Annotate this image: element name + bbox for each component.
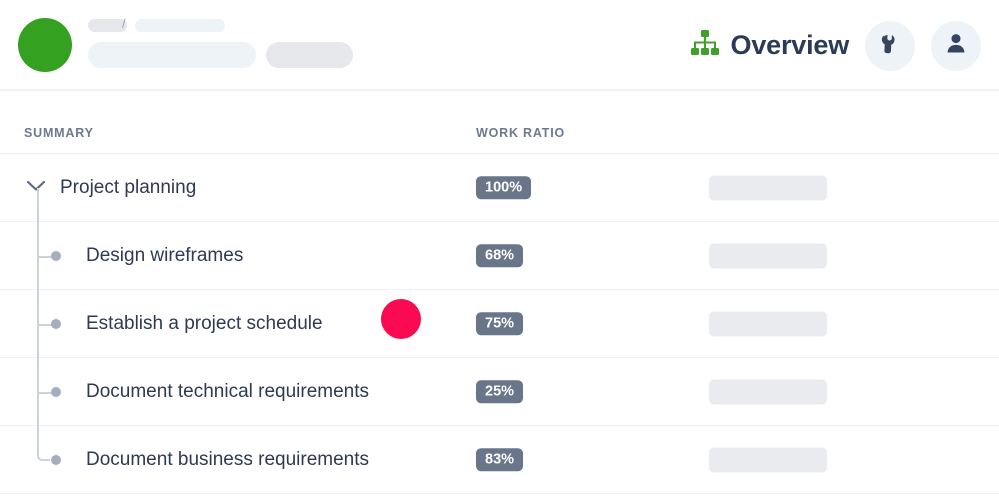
user-icon — [944, 31, 968, 60]
cursor-indicator — [381, 299, 421, 339]
header-actions: Overview — [690, 0, 981, 91]
work-ratio-badge: 75% — [476, 312, 523, 336]
work-ratio-badge: 25% — [476, 380, 523, 404]
row-summary-label: Document technical requirements — [86, 381, 369, 403]
row-placeholder-bar — [709, 379, 827, 404]
row-summary-label: Establish a project schedule — [86, 313, 323, 335]
row-summary-label: Design wireframes — [86, 245, 243, 267]
wrench-icon — [878, 31, 902, 60]
tree-trunk — [37, 188, 39, 222]
tree-branch — [38, 392, 52, 394]
page-title-placeholder — [88, 42, 256, 68]
work-ratio-badge: 83% — [476, 448, 523, 472]
profile-button[interactable] — [931, 21, 981, 71]
row-placeholder-bar — [709, 447, 827, 472]
table-row[interactable]: Document technical requirements 25% — [0, 358, 999, 426]
table-row[interactable]: Project planning 100% — [0, 154, 999, 222]
sitemap-icon — [690, 29, 720, 62]
tree-branch — [38, 256, 52, 258]
tree-branch — [38, 324, 52, 326]
tree-node-icon — [51, 455, 61, 465]
project-avatar[interactable] — [18, 18, 72, 72]
settings-button[interactable] — [865, 21, 915, 71]
table-row[interactable]: Design wireframes 68% — [0, 222, 999, 290]
chevron-down-icon[interactable] — [25, 178, 47, 197]
app-root: / Overview — [0, 0, 999, 500]
tree-elbow — [37, 426, 50, 461]
work-ratio-badge: 68% — [476, 244, 523, 268]
tree-node-icon — [51, 319, 61, 329]
column-header-summary[interactable]: SUMMARY — [24, 126, 94, 140]
overview-label: Overview — [731, 30, 849, 61]
row-summary-label: Project planning — [60, 177, 196, 199]
table-column-headers: SUMMARY WORK RATIO — [0, 91, 999, 154]
breadcrumb-placeholder-second — [135, 19, 225, 32]
row-placeholder-bar — [709, 175, 827, 200]
issue-tree-table: Project planning 100% Design wireframes … — [0, 154, 999, 494]
tree-node-icon — [51, 251, 61, 261]
work-ratio-badge: 100% — [476, 176, 531, 200]
page-header: / Overview — [0, 0, 999, 91]
overview-view-switcher[interactable]: Overview — [690, 29, 849, 62]
table-row[interactable]: Establish a project schedule 75% — [0, 290, 999, 358]
tree-node-icon — [51, 387, 61, 397]
column-header-work-ratio[interactable]: WORK RATIO — [476, 126, 565, 140]
breadcrumb-separator: / — [122, 16, 126, 31]
page-title-badge-placeholder — [266, 42, 353, 68]
row-placeholder-bar — [709, 311, 827, 336]
row-summary-label: Document business requirements — [86, 449, 369, 471]
row-placeholder-bar — [709, 243, 827, 268]
table-row[interactable]: Document business requirements 83% — [0, 426, 999, 494]
